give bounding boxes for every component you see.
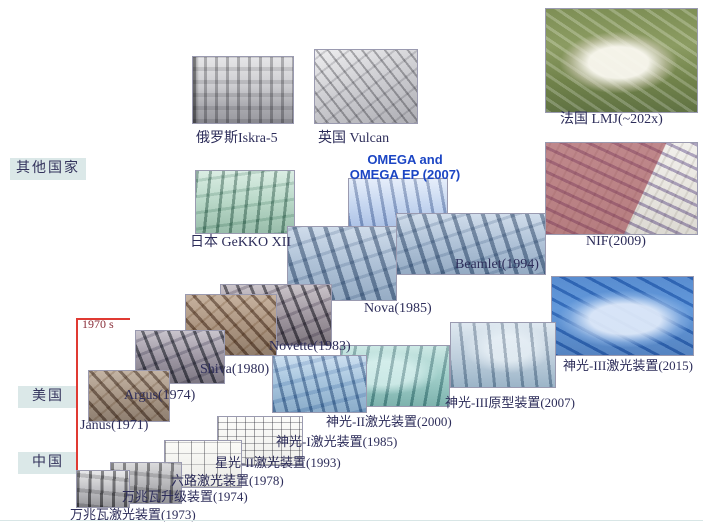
thumbnail-sg3-prototype [450, 322, 556, 388]
region-label-usa: 美国 [18, 386, 78, 408]
caption-janus: Janus(1971) [80, 418, 148, 434]
caption-shiva: Shiva(1980) [200, 362, 269, 378]
thumbnail-sg3 [551, 276, 694, 356]
caption-lmj: 法国 LMJ(~202x) [560, 112, 663, 128]
thumbnail-iskra-5 [192, 56, 294, 124]
caption-sg3-prototype: 神光-III原型装置(2007) [445, 395, 575, 411]
bottom-divider [0, 520, 703, 521]
caption-sg2: 神光-II激光装置(2000) [326, 414, 452, 430]
region-label-other-countries: 其他国家 [10, 158, 86, 180]
caption-argus: Argus(1974) [124, 388, 195, 404]
label-omega-line2: OMEGA EP (2007) [340, 167, 470, 182]
caption-nova: Nova(1985) [364, 301, 432, 317]
caption-novette: Novette(1983) [269, 339, 351, 355]
thumbnail-nif [545, 142, 698, 235]
thumbnail-sg1 [272, 355, 367, 413]
caption-beamlet: Beamlet(1994) [455, 257, 539, 273]
caption-xingguang-2: 星光-II激光装置(1993) [215, 455, 341, 471]
caption-nif: NIF(2009) [586, 234, 646, 250]
thumbnail-vulcan [314, 49, 418, 124]
thumbnail-gekko-xii [195, 170, 295, 234]
label-omega-highlight: OMEGA and OMEGA EP (2007) [340, 152, 470, 182]
label-omega-line1: OMEGA and [340, 152, 470, 167]
caption-sg1: 神光-I激光装置(1985) [276, 434, 397, 450]
caption-iskra-5: 俄罗斯Iskra-5 [196, 131, 278, 147]
caption-vulcan: 英国 Vulcan [318, 131, 389, 147]
region-label-china: 中国 [18, 452, 78, 474]
timeline-tick-label-1970s: 1970 s [82, 317, 114, 332]
caption-liulu: 六路激光装置(1978) [171, 473, 284, 489]
caption-sg3: 神光-III激光装置(2015) [563, 358, 693, 374]
caption-gekko-xii: 日本 GeKKO XII [190, 235, 291, 251]
laser-facility-timeline-diagram: 其他国家 美国 中国 1970 s [0, 0, 703, 528]
thumbnail-lmj [545, 8, 698, 113]
caption-wzw-upgrade: 万兆瓦升级装置(1974) [122, 489, 248, 505]
